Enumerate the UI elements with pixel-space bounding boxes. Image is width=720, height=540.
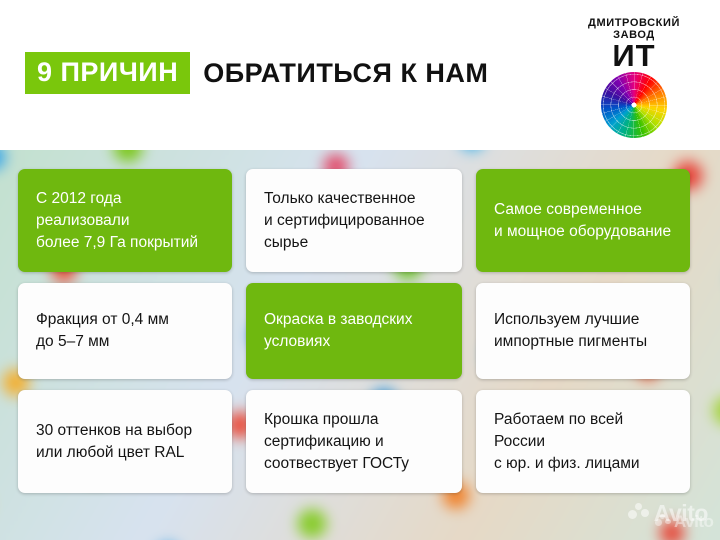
reason-card-7-text: 30 оттенков на выбор или любой цвет RAL [36, 420, 192, 464]
reason-card-3-text: Самое современное и мощное оборудование [494, 199, 671, 243]
slide-canvas: 9 ПРИЧИН ОБРАТИТЬСЯ К НАМ ДМИТРОВСКИЙ ЗА… [0, 0, 720, 540]
reasons-grid: С 2012 года реализовали более 7,9 Га пок… [18, 169, 702, 504]
header-bar: 9 ПРИЧИН ОБРАТИТЬСЯ К НАМ ДМИТРОВСКИЙ ЗА… [0, 0, 720, 150]
grid-row-3: 30 оттенков на выбор или любой цвет RAL … [18, 390, 702, 493]
reason-card-7[interactable]: 30 оттенков на выбор или любой цвет RAL [18, 390, 232, 493]
reason-card-1-text: С 2012 года реализовали более 7,9 Га пок… [36, 188, 214, 254]
reason-card-5-text: Окраска в заводских условиях [264, 309, 412, 353]
reason-card-4-text: Фракция от 0,4 мм до 5–7 мм [36, 309, 169, 353]
reason-card-8-text: Крошка прошла сертификацию и соотвествуе… [264, 409, 409, 475]
grid-row-2: Фракция от 0,4 мм до 5–7 мм Окраска в за… [18, 283, 702, 379]
avito-wordmark-2: Avito [674, 512, 713, 532]
avito-watermark-2: Avito [655, 512, 713, 532]
logo-line-1: ДМИТРОВСКИЙ [570, 18, 698, 30]
color-wheel-spokes [601, 72, 667, 138]
reason-card-8[interactable]: Крошка прошла сертификацию и соотвествуе… [246, 390, 462, 493]
reason-card-6[interactable]: Используем лучшие импортные пигменты [476, 283, 690, 379]
color-wheel-icon [601, 72, 667, 138]
title-badge: 9 ПРИЧИН [25, 52, 190, 94]
reason-card-9[interactable]: Работаем по всей России с юр. и физ. лиц… [476, 390, 690, 493]
logo-monogram: ИТ [570, 40, 698, 71]
reason-card-4[interactable]: Фракция от 0,4 мм до 5–7 мм [18, 283, 232, 379]
grid-row-1: С 2012 года реализовали более 7,9 Га пок… [18, 169, 702, 272]
reason-card-2-text: Только качественное и сертифицированное … [264, 188, 425, 254]
company-logo: ДМИТРОВСКИЙ ЗАВОД ИТ [570, 18, 698, 138]
reason-card-3[interactable]: Самое современное и мощное оборудование [476, 169, 690, 272]
page-title: 9 ПРИЧИН ОБРАТИТЬСЯ К НАМ [25, 52, 488, 94]
reason-card-6-text: Используем лучшие импортные пигменты [494, 309, 647, 353]
reason-card-2[interactable]: Только качественное и сертифицированное … [246, 169, 462, 272]
title-text: ОБРАТИТЬСЯ К НАМ [203, 60, 488, 87]
avito-bubbles-icon-2 [655, 514, 672, 531]
avito-bubbles-icon [628, 502, 651, 525]
reason-card-5[interactable]: Окраска в заводских условиях [246, 283, 462, 379]
reason-card-1[interactable]: С 2012 года реализовали более 7,9 Га пок… [18, 169, 232, 272]
reason-card-9-text: Работаем по всей России с юр. и физ. лиц… [494, 409, 672, 475]
